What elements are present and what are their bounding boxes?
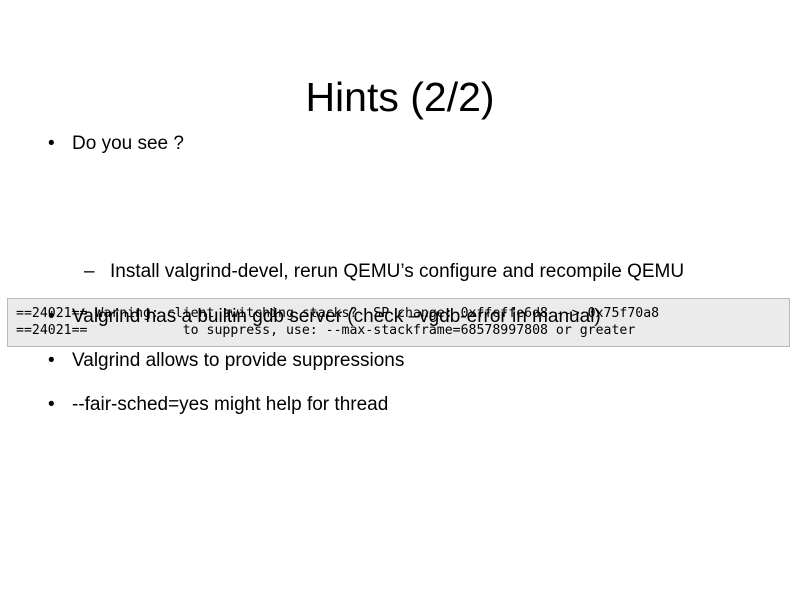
bullet-dot-icon: • [48,392,68,418]
bullet-label-gdb-server: Valgrind has a builtin gdb server (check… [72,306,601,327]
spacer-before-code [0,157,800,173]
bullet-item-gdb-server: • Valgrind has a builtin gdb server (che… [0,304,800,330]
bullet-dot-icon: • [48,304,68,330]
bullet-label-fair-sched: --fair-sched=yes might help for thread [72,394,388,415]
bullet-label-install-valgrind-devel: Install valgrind-devel, rerun QEMU’s con… [110,261,684,282]
bullet-dot-icon: • [48,348,68,374]
bullet-item-suppressions: • Valgrind allows to provide suppression… [0,348,800,374]
bullet-dash-icon: – [84,259,104,285]
bullet-dot-icon: • [48,131,68,157]
bullet-item-install-valgrind-devel: – Install valgrind-devel, rerun QEMU’s c… [0,259,800,284]
bullet-label-do-you-see: Do you see ? [72,133,184,154]
spacer-after-code [0,173,800,259]
bullet-item-do-you-see: • Do you see ? [0,131,800,157]
slide-canvas: Hints (2/2) • Do you see ? ==24021== War… [0,0,800,600]
spacer-3 [0,374,800,392]
bullet-label-suppressions: Valgrind allows to provide suppressions [72,350,404,371]
page-title: Hints (2/2) [0,75,800,120]
bullet-item-fair-sched: • --fair-sched=yes might help for thread [0,392,800,418]
slide-body: • Do you see ? ==24021== Warning: client… [0,131,800,418]
